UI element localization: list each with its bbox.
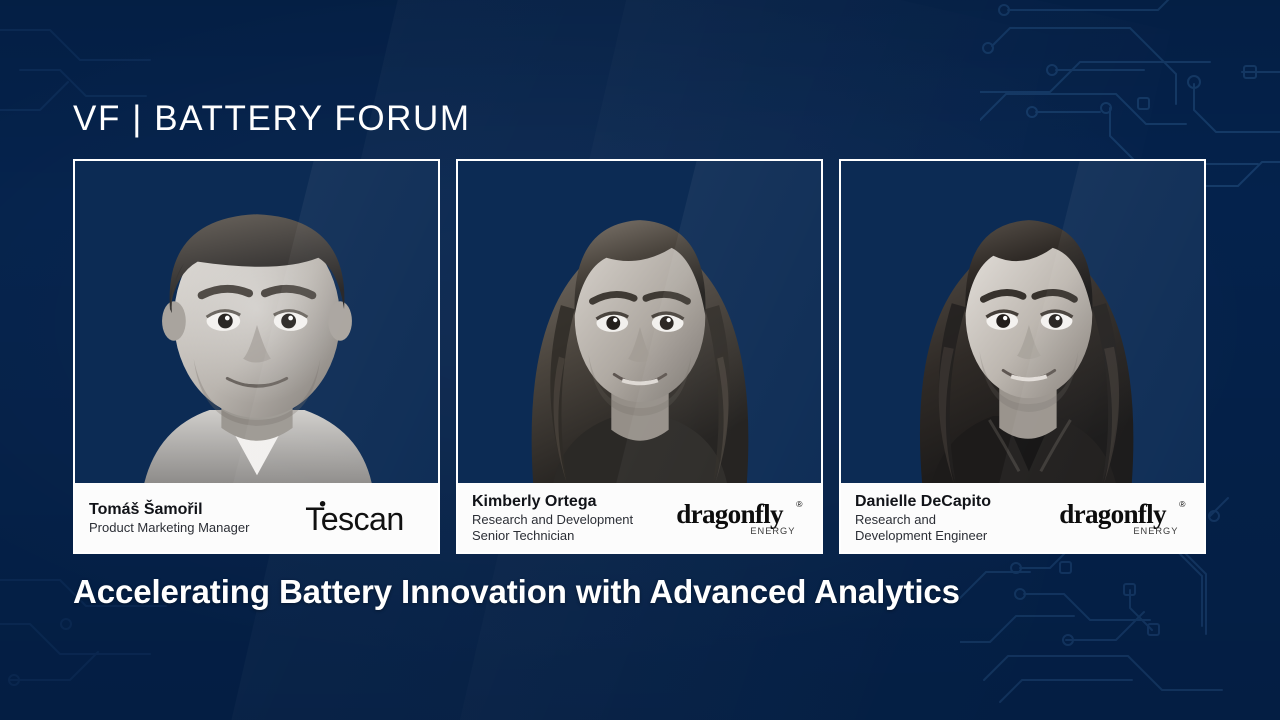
session-headline: Accelerating Battery Innovation with Adv… — [73, 573, 960, 611]
company-logo: dragonfly ® ENERGY — [675, 497, 811, 539]
speaker-role-line1: Research and — [855, 512, 991, 528]
speaker-name: Danielle DeCapito — [855, 492, 991, 512]
event-title: VF | BATTERY FORUM — [73, 99, 471, 139]
speaker-card: Tomáš Šamořil Product Marketing Manager … — [73, 159, 440, 554]
speaker-role-line2: Development Engineer — [855, 528, 991, 544]
speaker-card: Kimberly Ortega Research and Development… — [456, 159, 823, 554]
svg-text:Tescan: Tescan — [305, 500, 403, 536]
dragonfly-energy-logo-icon: dragonfly ® ENERGY — [675, 497, 811, 539]
svg-text:ENERGY: ENERGY — [750, 526, 795, 536]
speaker-name: Kimberly Ortega — [472, 492, 633, 512]
dragonfly-energy-logo-icon: dragonfly ® ENERGY — [1058, 497, 1194, 539]
speaker-role-line2: Senior Technician — [472, 528, 633, 544]
speaker-nameplate: Kimberly Ortega Research and Development… — [458, 483, 821, 552]
svg-text:dragonfly: dragonfly — [676, 498, 784, 528]
portrait-danielle-decapito-icon — [841, 161, 1204, 483]
speaker-photo — [458, 161, 821, 483]
svg-text:®: ® — [1179, 498, 1186, 508]
tescan-logo-icon: Tescan — [304, 498, 428, 538]
speaker-role-line1: Research and Development — [472, 512, 633, 528]
company-logo: dragonfly ® ENERGY — [1058, 497, 1194, 539]
speaker-nameplate: Danielle DeCapito Research and Developme… — [841, 483, 1204, 552]
speaker-card: Danielle DeCapito Research and Developme… — [839, 159, 1206, 554]
svg-text:ENERGY: ENERGY — [1133, 526, 1178, 536]
speaker-photo — [841, 161, 1204, 483]
speaker-photo — [75, 161, 438, 483]
svg-text:dragonfly: dragonfly — [1059, 498, 1167, 528]
speaker-card-list: Tomáš Šamořil Product Marketing Manager … — [73, 159, 1207, 554]
speaker-name: Tomáš Šamořil — [89, 500, 249, 520]
company-logo: Tescan — [304, 498, 428, 538]
presentation-slide: VF | BATTERY FORUM — [0, 0, 1280, 720]
speaker-role-line1: Product Marketing Manager — [89, 520, 249, 536]
speaker-nameplate: Tomáš Šamořil Product Marketing Manager … — [75, 483, 438, 552]
portrait-tomas-samoril-icon — [75, 161, 438, 483]
portrait-kimberly-ortega-icon — [458, 161, 821, 483]
svg-text:®: ® — [796, 498, 803, 508]
